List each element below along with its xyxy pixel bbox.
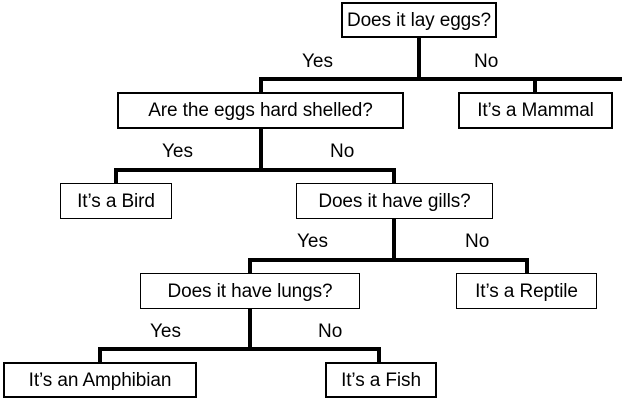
edge-hard-shelled-stem [259, 129, 263, 170]
node-label: Does it lay eggs? [347, 11, 491, 30]
edge-label-gills-no: No [463, 232, 491, 251]
edge-lungs-yes-drop [98, 347, 102, 363]
edge-lungs-no-drop [377, 347, 381, 363]
edge-lay-eggs-bar [259, 77, 622, 81]
node-reptile[interactable]: It’s a Reptile [456, 273, 597, 309]
node-label: It’s a Mammal [477, 101, 594, 120]
edge-label-lay-eggs-yes: Yes [300, 52, 335, 71]
node-gills[interactable]: Does it have gills? [296, 183, 493, 219]
edge-lungs-bar [98, 347, 381, 351]
edge-label-lay-eggs-no: No [472, 52, 500, 71]
edge-label-hard-shelled-yes: Yes [160, 142, 195, 161]
edge-gills-no-drop [525, 258, 529, 274]
edge-hard-shelled-yes-drop [114, 168, 118, 184]
edge-lay-eggs-no-drop [533, 77, 537, 93]
edge-label-lungs-no: No [316, 322, 344, 341]
edge-label-lungs-yes: Yes [148, 322, 183, 341]
edge-gills-bar [248, 258, 529, 262]
decision-tree-diagram: Does it lay eggs? Yes No Are the eggs ha… [0, 0, 622, 410]
node-lay-eggs[interactable]: Does it lay eggs? [341, 2, 497, 38]
node-fish[interactable]: It’s a Fish [325, 362, 437, 398]
node-label: It’s a Bird [77, 192, 155, 211]
edge-lungs-stem [248, 309, 252, 349]
edge-hard-shelled-no-drop [392, 168, 396, 184]
node-mammal[interactable]: It’s a Mammal [458, 92, 613, 129]
node-label: It’s a Reptile [475, 282, 578, 301]
node-label: Does it have gills? [318, 192, 470, 211]
node-label: It’s an Amphibian [29, 371, 172, 390]
node-label: Are the eggs hard shelled? [148, 101, 373, 120]
node-bird[interactable]: It’s a Bird [60, 183, 172, 219]
edge-label-gills-yes: Yes [295, 232, 330, 251]
node-lungs[interactable]: Does it have lungs? [140, 273, 360, 309]
node-label: It’s a Fish [341, 371, 421, 390]
node-label: Does it have lungs? [168, 282, 333, 301]
edge-lay-eggs-yes-drop [259, 77, 263, 93]
edge-label-hard-shelled-no: No [328, 142, 356, 161]
edge-gills-stem [392, 219, 396, 260]
edge-hard-shelled-bar [114, 168, 396, 172]
node-amphibian[interactable]: It’s an Amphibian [3, 362, 197, 398]
node-hard-shelled[interactable]: Are the eggs hard shelled? [117, 92, 404, 129]
edge-gills-yes-drop [248, 258, 252, 274]
edge-lay-eggs-stem [417, 38, 421, 79]
